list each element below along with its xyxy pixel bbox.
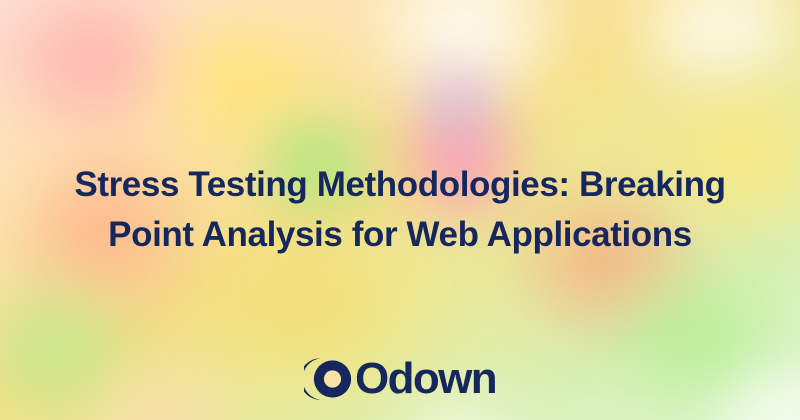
- page-title: Stress Testing Methodologies: Breaking P…: [0, 160, 800, 260]
- brand-logo: Odown: [0, 356, 800, 402]
- cover-card: Stress Testing Methodologies: Breaking P…: [0, 0, 800, 420]
- cover-content: Stress Testing Methodologies: Breaking P…: [0, 0, 800, 420]
- brand-wordmark: Odown: [355, 356, 496, 402]
- odown-crescent-ring-icon: [304, 356, 354, 402]
